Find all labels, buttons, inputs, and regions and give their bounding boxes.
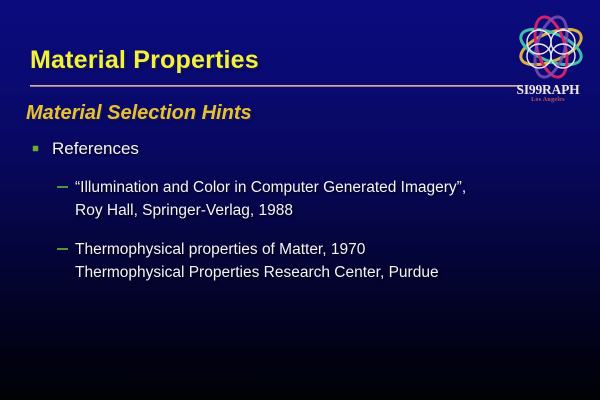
list-item: “Illumination and Color in Computer Gene… xyxy=(0,176,600,222)
dash-bullet-icon xyxy=(57,186,68,188)
logo-city-label: Los Angeles xyxy=(500,97,596,103)
list-item: References xyxy=(0,138,600,160)
slide-subtitle: Material Selection Hints xyxy=(26,102,252,125)
list-item-label: References xyxy=(52,139,139,158)
list-item-label: Thermophysical properties of Matter, 197… xyxy=(75,241,365,258)
presentation-slide: Material Properties Material Selection H… xyxy=(0,0,600,400)
square-bullet-icon xyxy=(33,146,38,151)
list-item-label-continued: Roy Hall, Springer-Verlag, 1988 xyxy=(75,199,600,222)
dash-bullet-icon xyxy=(57,248,68,250)
list-item: Thermophysical properties of Matter, 197… xyxy=(0,238,600,284)
siggraph-rings-icon xyxy=(508,12,594,82)
slide-body: References “Illumination and Color in Co… xyxy=(0,138,600,284)
title-divider xyxy=(30,85,522,87)
list-item-label-continued: Thermophysical Properties Research Cente… xyxy=(75,261,600,284)
page-title: Material Properties xyxy=(30,46,259,75)
logo-wordmark: SI99RAPH xyxy=(500,82,596,98)
siggraph-99-logo: SI99RAPH Los Angeles xyxy=(500,12,596,108)
list-item-label: “Illumination and Color in Computer Gene… xyxy=(75,179,466,196)
